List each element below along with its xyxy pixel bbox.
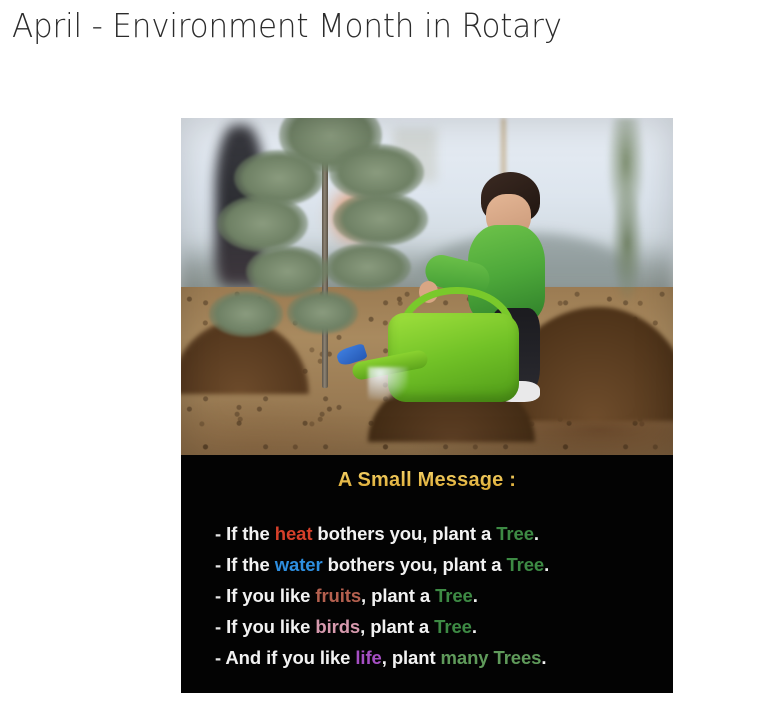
message-word-tree: Tree: [506, 554, 544, 575]
message-word-heat: heat: [275, 523, 313, 544]
message-word-birds: birds: [315, 616, 360, 637]
message-word-plain: .: [544, 554, 549, 575]
message-word-plain: .: [541, 647, 546, 668]
message-word-plain: , plant a: [360, 616, 434, 637]
tree-foliage: [217, 195, 308, 252]
message-word-tree: Tree: [434, 616, 472, 637]
message-heading: A Small Message :: [181, 455, 673, 492]
message-word-plain: bothers you, plant a: [323, 554, 507, 575]
tree-foliage: [209, 291, 283, 336]
environment-poster: A Small Message : - If the heat bothers …: [181, 118, 673, 693]
message-word-plain: .: [534, 523, 539, 544]
message-word-tree: Tree: [435, 585, 473, 606]
message-word-plain: .: [473, 585, 478, 606]
message-line-dash: -: [215, 616, 226, 637]
page-title: April - Environment Month in Rotary: [12, 2, 562, 50]
message-word-tree: Tree: [496, 523, 534, 544]
tree-foliage: [333, 192, 428, 246]
message-word-plain: And if you like: [225, 647, 355, 668]
message-word-plain: If the: [226, 554, 275, 575]
tree-foliage: [246, 246, 329, 297]
sapling-right: [594, 118, 658, 320]
message-word-life: life: [355, 647, 381, 668]
message-line-list: - If the heat bothers you, plant a Tree.…: [181, 518, 673, 673]
child-watering-tree-photo: [181, 118, 673, 455]
message-line: - If the heat bothers you, plant a Tree.: [215, 518, 673, 549]
message-word-many-trees: many Trees: [441, 647, 542, 668]
message-line: - And if you like life, plant many Trees…: [215, 642, 673, 673]
tree-foliage: [324, 243, 411, 291]
message-word-fruits: fruits: [315, 585, 361, 606]
message-line-dash: -: [215, 585, 226, 606]
message-word-plain: bothers you, plant a: [312, 523, 496, 544]
message-word-plain: , plant a: [361, 585, 435, 606]
message-word-plain: , plant: [382, 647, 441, 668]
message-word-plain: If you like: [226, 616, 315, 637]
message-word-plain: .: [472, 616, 477, 637]
message-word-water: water: [275, 554, 323, 575]
message-word-plain: If the: [226, 523, 275, 544]
tree-foliage: [287, 291, 357, 333]
message-line: - If the water bothers you, plant a Tree…: [215, 549, 673, 580]
message-line-dash: -: [215, 647, 225, 668]
message-word-plain: If you like: [226, 585, 315, 606]
message-line-dash: -: [215, 554, 226, 575]
message-panel: A Small Message : - If the heat bothers …: [181, 455, 673, 693]
message-line: - If you like birds, plant a Tree.: [215, 611, 673, 642]
watering-can: [348, 293, 530, 404]
message-line-dash: -: [215, 523, 226, 544]
water-splash: [368, 367, 408, 400]
message-line: - If you like fruits, plant a Tree.: [215, 580, 673, 611]
